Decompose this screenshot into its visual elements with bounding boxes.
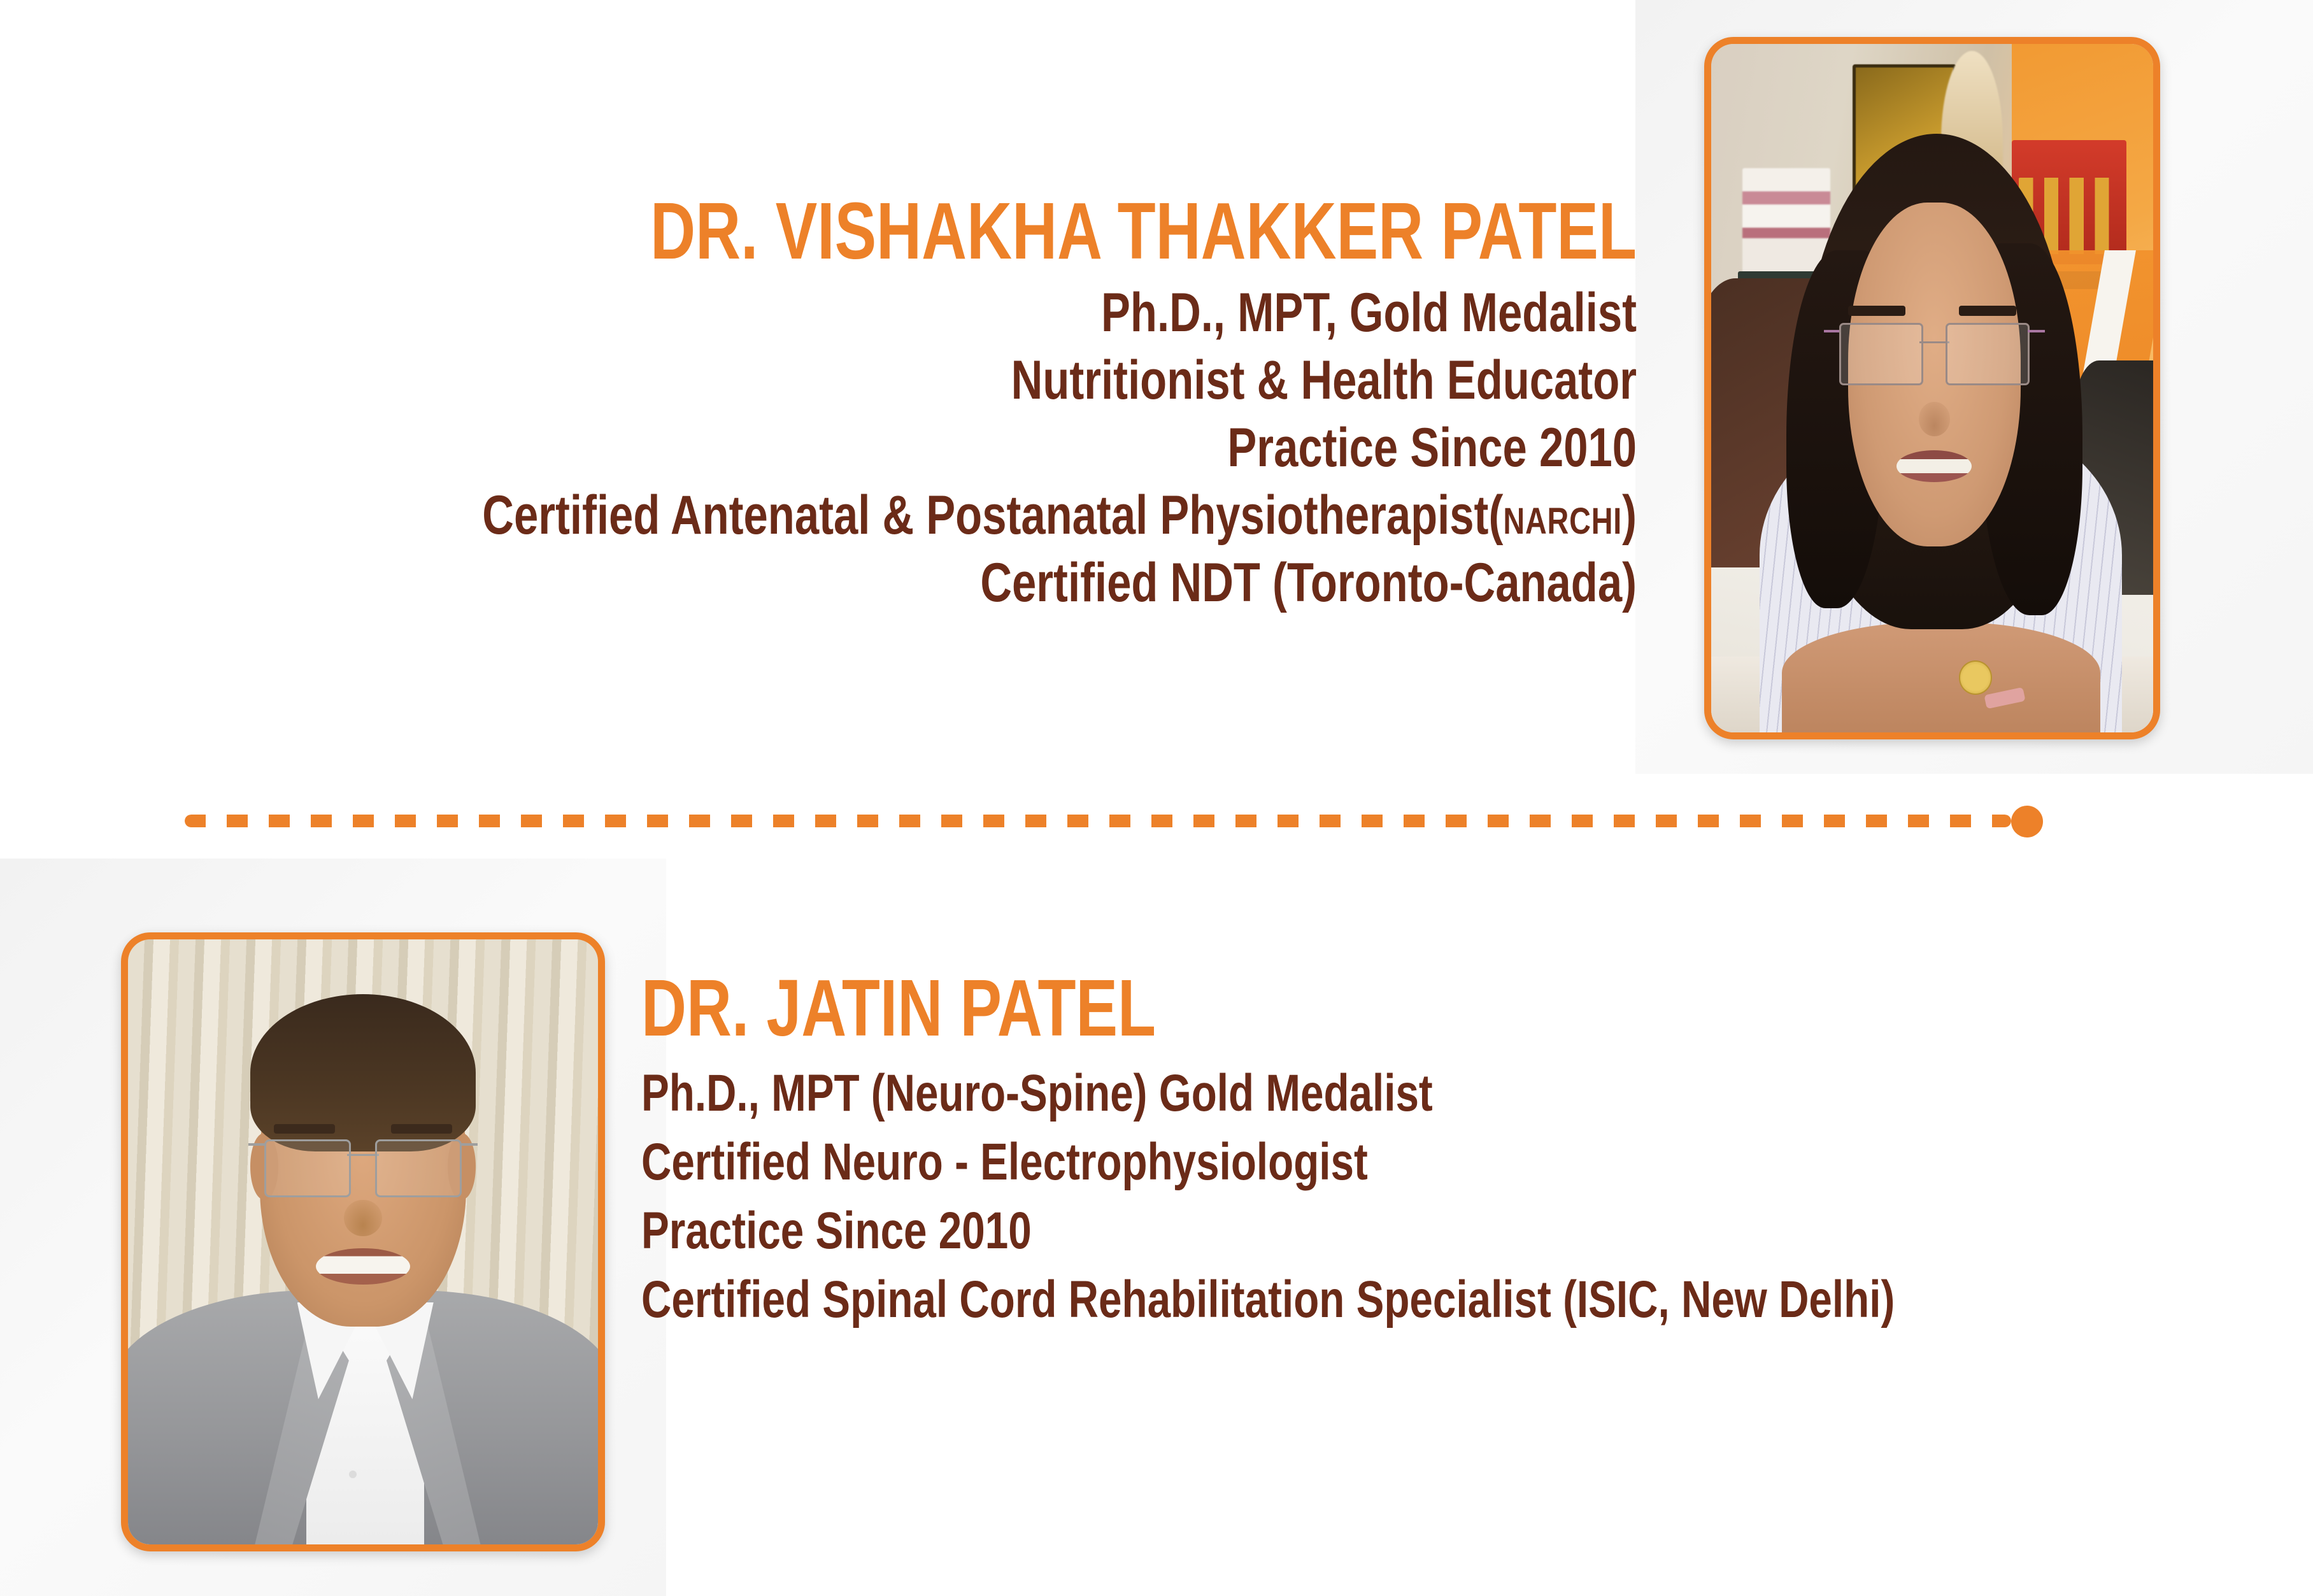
portrait-photo-vishakha-image [1711,44,2153,732]
credential-line-narchi: Certified Antenatal & Postanatal Physiot… [429,488,1637,543]
dashed-divider [185,810,2032,827]
credential-line-4: Certified NDT (Toronto-Canada) [429,555,1637,610]
divider-dashes [185,815,2011,827]
credential-line-2: Nutritionist & Health Educator [429,353,1637,408]
credential-line-4: Certified Spinal Cord Rehabilitation Spe… [641,1274,1915,1326]
portrait-photo-jatin [121,932,605,1551]
doctor-name-jatin: DR. JATIN PATEL [641,968,1883,1048]
portrait-photo-vishakha [1704,37,2160,739]
credential-narchi-prefix: Certified Antenatal & Postanatal Physiot… [482,485,1503,546]
credential-narchi-badge: NARCHI [1503,501,1622,542]
credential-line-1: Ph.D., MPT, Gold Medalist [429,285,1637,340]
credential-line-1: Ph.D., MPT (Neuro-Spine) Gold Medalist [641,1067,1915,1120]
credential-line-2: Certified Neuro - Electrophysiologist [641,1136,1915,1188]
doctor-profile-jatin: DR. JATIN PATEL Ph.D., MPT (Neuro-Spine)… [641,968,2233,1343]
credential-narchi-suffix: ) [1622,485,1637,546]
credential-line-3: Practice Since 2010 [641,1205,1915,1257]
doctor-profile-vishakha: DR. VISHAKHA THAKKER PATEL Ph.D., MPT, G… [127,191,1637,623]
credential-line-3: Practice Since 2010 [429,420,1637,475]
divider-end-dot [2011,806,2043,837]
doctor-name-vishakha: DR. VISHAKHA THAKKER PATEL [459,191,1637,271]
portrait-photo-jatin-image [128,939,598,1544]
